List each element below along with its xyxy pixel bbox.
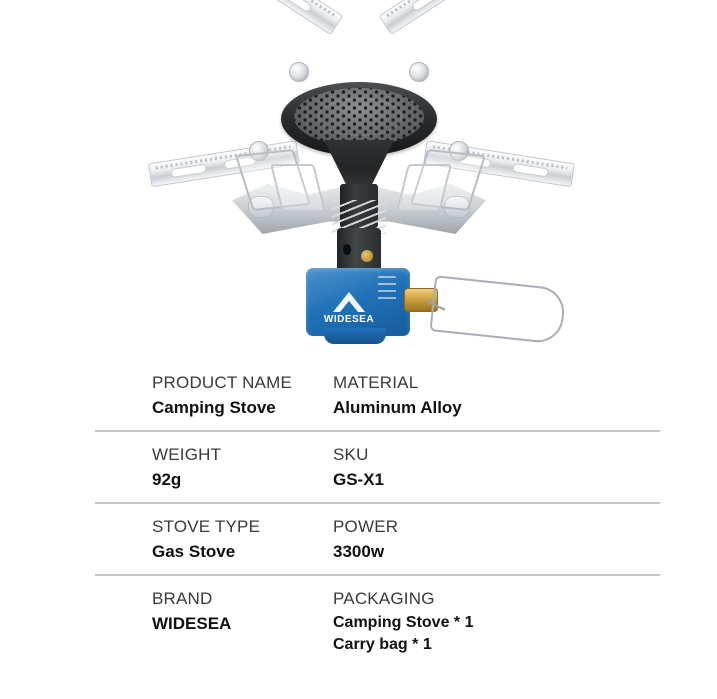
burner-inner-ring (318, 98, 402, 136)
burner-cone (324, 140, 394, 188)
spec-cell-brand: BRAND WIDESEA (0, 588, 333, 656)
spec-label: MATERIAL (333, 372, 717, 394)
spec-value: 3300w (333, 540, 717, 564)
logo-wordmark: WIDESEA (324, 314, 374, 325)
spec-label: WEIGHT (152, 444, 333, 466)
spec-row-brand: BRAND WIDESEA PACKAGING Camping Stove * … (0, 576, 717, 666)
spec-label: SKU (333, 444, 717, 466)
stem-vent-hole (343, 244, 351, 255)
spec-value: Aluminum Alloy (333, 396, 717, 420)
stem-brass-screw (361, 250, 373, 262)
spec-value: GS-X1 (333, 468, 717, 492)
spec-label: POWER (333, 516, 717, 538)
packaging-list: Camping Stove * 1 Carry bag * 1 (333, 612, 717, 656)
spec-cell-product-name: PRODUCT NAME Camping Stove (0, 372, 333, 420)
spec-value: WIDESEA (152, 612, 333, 636)
spec-value: Camping Stove (152, 396, 333, 420)
spec-table: PRODUCT NAME Camping Stove MATERIAL Alum… (0, 360, 717, 666)
spec-label: PRODUCT NAME (152, 372, 333, 394)
spec-value: Gas Stove (152, 540, 333, 564)
spec-row-weight: WEIGHT 92g SKU GS-X1 (0, 432, 717, 502)
packaging-item: Carry bag * 1 (333, 634, 717, 656)
spec-cell-power: POWER 3300w (333, 516, 717, 564)
wire-control-handle (429, 275, 566, 344)
spec-value: 92g (152, 468, 333, 492)
spec-label: BRAND (152, 588, 333, 610)
arm-pivot-rivet-upper-right (409, 62, 429, 82)
spec-cell-sku: SKU GS-X1 (333, 444, 717, 492)
packaging-item: Camping Stove * 1 (333, 612, 717, 634)
valve-body-neck (324, 328, 386, 344)
spec-row-stove-type: STOVE TYPE Gas Stove POWER 3300w (0, 504, 717, 574)
spec-row-product-name: PRODUCT NAME Camping Stove MATERIAL Alum… (0, 360, 717, 430)
spec-cell-weight: WEIGHT 92g (0, 444, 333, 492)
spec-cell-stove-type: STOVE TYPE Gas Stove (0, 516, 333, 564)
product-image: WIDESEA (0, 0, 717, 360)
pot-support-arm-upper-right (379, 0, 502, 35)
spec-cell-material: MATERIAL Aluminum Alloy (333, 372, 717, 420)
valve-flow-markings (378, 276, 396, 304)
widesea-logo: WIDESEA (318, 288, 380, 328)
spec-label: STOVE TYPE (152, 516, 333, 538)
spec-label: PACKAGING (333, 588, 717, 610)
product-photo-stage: WIDESEA (0, 0, 717, 360)
mountain-peak-icon: WIDESEA (318, 288, 380, 328)
arm-pivot-rivet-upper-left (289, 62, 309, 82)
pot-support-arm-upper-left (220, 0, 343, 35)
spec-cell-packaging: PACKAGING Camping Stove * 1 Carry bag * … (333, 588, 717, 656)
